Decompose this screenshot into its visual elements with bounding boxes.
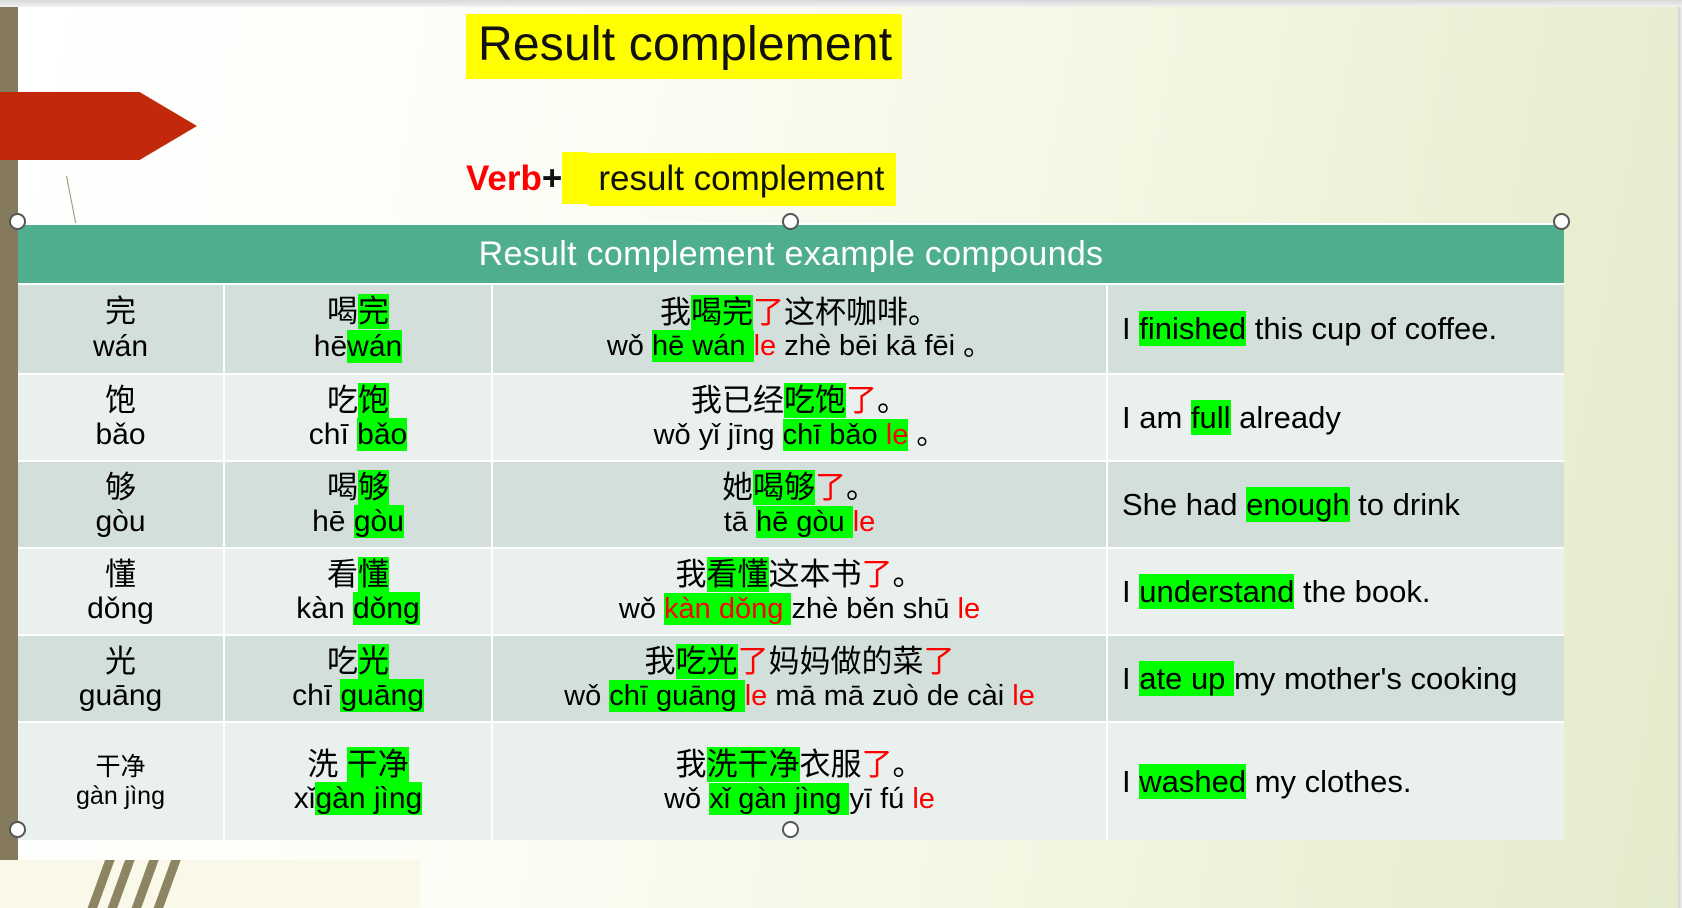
complement-hanzi: 懂 (105, 557, 136, 592)
cell-english: I understand the book. (1108, 549, 1560, 634)
cell-complement: 完 wán (18, 285, 225, 373)
compound-hanzi: 吃饱 (327, 383, 389, 418)
sentence-hanzi: 她喝够了。 (722, 470, 877, 505)
sentence-pinyin: wǒ kàn dǒng zhè běn shū le (619, 593, 980, 626)
formula-verb: Verb (466, 159, 542, 198)
cell-example-sentence: 我看懂这本书了。 wǒ kàn dǒng zhè běn shū le (493, 549, 1108, 634)
complement-hanzi: 完 (105, 294, 136, 329)
sentence-hanzi: 我洗干净衣服了。 (676, 747, 924, 782)
sentence-pinyin: wǒ hē wán le zhè bēi kā fēi 。 (607, 330, 992, 363)
complement-pinyin: dǒng (87, 592, 154, 626)
english-translation: I am full already (1122, 399, 1341, 436)
complement-hanzi: 饱 (105, 383, 136, 418)
formula-plus: + (542, 159, 562, 198)
cell-compound: 看懂 kàn dǒng (225, 549, 493, 634)
compound-hanzi: 洗 干净 (307, 747, 409, 782)
compound-pinyin: chī guāng (292, 679, 424, 713)
complement-hanzi: 够 (105, 470, 136, 505)
english-translation: I ate up my mother's cooking (1122, 660, 1517, 697)
complement-hanzi: 光 (105, 644, 136, 679)
cell-compound: 吃饱 chī bǎo (225, 375, 493, 460)
selection-handle-top-left[interactable] (9, 213, 26, 230)
cell-example-sentence: 我喝完了这杯咖啡。 wǒ hē wán le zhè bēi kā fēi 。 (493, 285, 1108, 373)
sentence-pinyin: wǒ xǐ gàn jìng yī fú le (664, 783, 935, 816)
slide-title: Result complement (466, 14, 902, 79)
compound-pinyin: xǐgàn jìng (294, 782, 422, 816)
table-row[interactable]: 光 guāng 吃光 chī guāng 我吃光了妈妈做的菜了 wǒ chī g… (18, 634, 1564, 721)
cell-english: I ate up my mother's cooking (1108, 636, 1560, 721)
compound-pinyin: hēwán (314, 330, 402, 364)
sentence-hanzi: 我喝完了这杯咖啡。 (660, 295, 939, 330)
compound-pinyin: hē gòu (312, 505, 404, 539)
cell-example-sentence: 我已经吃饱了。 wǒ yǐ jīng chī bǎo le 。 (493, 375, 1108, 460)
cell-complement: 够 gòu (18, 462, 225, 547)
selection-handle-top-center[interactable] (782, 213, 799, 230)
complement-pinyin: guāng (79, 679, 162, 713)
english-translation: I understand the book. (1122, 573, 1431, 610)
cell-compound: 吃光 chī guāng (225, 636, 493, 721)
sentence-pinyin: tā hē gòu le (724, 506, 876, 539)
compound-pinyin: chī bǎo (309, 418, 407, 452)
table-row[interactable]: 饱 bǎo 吃饱 chī bǎo 我已经吃饱了。 wǒ yǐ jīng chī … (18, 373, 1564, 460)
cell-example-sentence: 我吃光了妈妈做的菜了 wǒ chī guāng le mā mā zuò de … (493, 636, 1108, 721)
selection-handle-bottom-left[interactable] (9, 821, 26, 838)
compound-hanzi: 喝完 (327, 294, 389, 329)
cell-complement: 光 guāng (18, 636, 225, 721)
complement-pinyin: gòu (95, 505, 145, 539)
table-row[interactable]: 懂 dǒng 看懂 kàn dǒng 我看懂这本书了。 wǒ kàn dǒng … (18, 547, 1564, 634)
formula-line: Verb+result complement (466, 152, 896, 204)
cell-compound: 喝够 hē gòu (225, 462, 493, 547)
table-header: Result complement example compounds (18, 225, 1564, 283)
result-complement-table: Result complement example compounds 完 wá… (18, 223, 1564, 835)
cell-english: I washed my clothes. (1108, 723, 1560, 840)
cell-english: She had enough to drink (1108, 462, 1560, 547)
window-top-bar (0, 0, 1682, 7)
cell-compound: 喝完 hēwán (225, 285, 493, 373)
formula-highlight-pad (562, 152, 588, 204)
english-translation: I washed my clothes. (1122, 763, 1411, 800)
bottom-ribbon-decoration (0, 860, 420, 908)
complement-hanzi: 干净 (95, 753, 145, 782)
compound-pinyin: kàn dǒng (296, 592, 419, 626)
english-translation: I finished this cup of coffee. (1122, 310, 1497, 347)
slide-canvas: Result complement Verb+result complement… (0, 0, 1682, 908)
cell-example-sentence: 我洗干净衣服了。 wǒ xǐ gàn jìng yī fú le (493, 723, 1108, 840)
cell-example-sentence: 她喝够了。 tā hē gòu le (493, 462, 1108, 547)
compound-hanzi: 看懂 (327, 557, 389, 592)
compound-hanzi: 吃光 (327, 644, 389, 679)
sentence-hanzi: 我已经吃饱了。 (691, 383, 908, 418)
compound-hanzi: 喝够 (327, 470, 389, 505)
sentence-pinyin: wǒ chī guāng le mā mā zuò de cài le (564, 680, 1035, 713)
table-row[interactable]: 够 gòu 喝够 hē gòu 她喝够了。 tā hē gòu le She h… (18, 460, 1564, 547)
right-edge-bar (1678, 7, 1682, 908)
cell-complement: 干净 gàn jìng (18, 723, 225, 840)
sentence-hanzi: 我吃光了妈妈做的菜了 (645, 644, 955, 679)
cell-english: I finished this cup of coffee. (1108, 285, 1560, 373)
formula-complement: result complement (588, 153, 896, 206)
cell-complement: 懂 dǒng (18, 549, 225, 634)
english-translation: She had enough to drink (1122, 486, 1460, 523)
cell-english: I am full already (1108, 375, 1560, 460)
cell-complement: 饱 bǎo (18, 375, 225, 460)
sentence-hanzi: 我看懂这本书了。 (676, 557, 924, 592)
selection-handle-top-right[interactable] (1553, 213, 1570, 230)
complement-pinyin: gàn jìng (76, 782, 165, 811)
complement-pinyin: bǎo (95, 418, 145, 452)
selection-handle-bottom-center[interactable] (782, 821, 799, 838)
complement-pinyin: wán (93, 330, 148, 364)
table-row[interactable]: 完 wán 喝完 hēwán 我喝完了这杯咖啡。 wǒ hē wán le zh… (18, 283, 1564, 373)
red-arrow-shape[interactable] (0, 92, 197, 160)
cell-compound: 洗 干净 xǐgàn jìng (225, 723, 493, 840)
sentence-pinyin: wǒ yǐ jīng chī bǎo le 。 (654, 419, 946, 452)
